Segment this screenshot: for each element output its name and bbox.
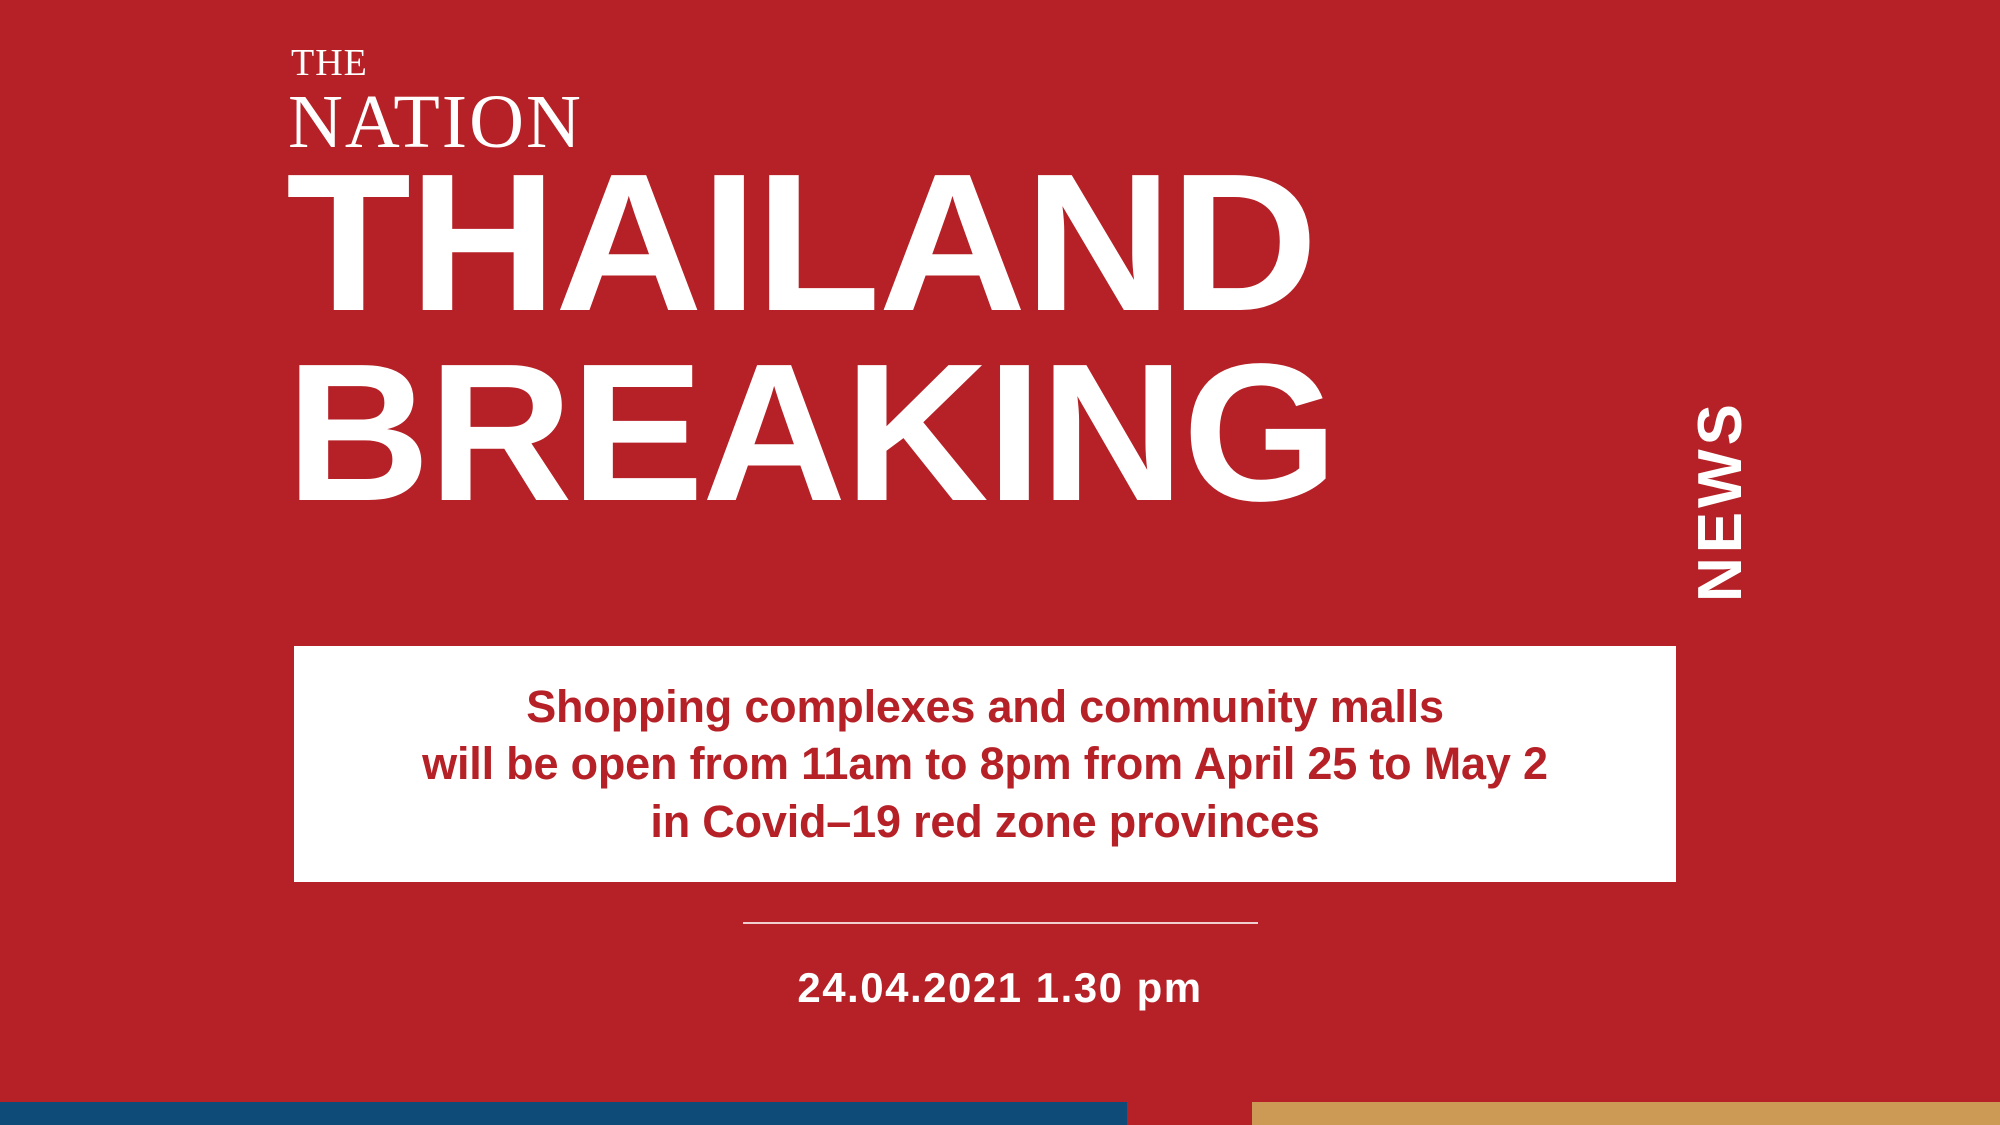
masthead-the-text: THE [291,44,583,82]
vertical-news-label: NEWS [1690,198,1752,400]
headline-line-thailand: THAILAND [286,150,1749,336]
bottom-bar-gold [1252,1102,2000,1125]
bottom-color-bars [0,1102,2000,1125]
announcement-line-1: Shopping complexes and community malls [526,678,1444,736]
breaking-news-poster: THE NATION THAILAND BREAKING NEWS Shoppi… [0,0,2000,1125]
announcement-box: Shopping complexes and community malls w… [294,646,1676,882]
headline-block: THAILAND BREAKING [286,150,1686,526]
headline-line-breaking: BREAKING [286,340,1714,526]
announcement-line-2: will be open from 11am to 8pm from April… [422,735,1548,793]
bottom-bar-blue [0,1102,1127,1125]
announcement-line-3: in Covid–19 red zone provinces [650,793,1319,851]
horizontal-divider [743,922,1258,924]
vertical-news-text: NEWS [1690,400,1752,602]
timestamp-text: 24.04.2021 1.30 pm [0,964,2000,1012]
